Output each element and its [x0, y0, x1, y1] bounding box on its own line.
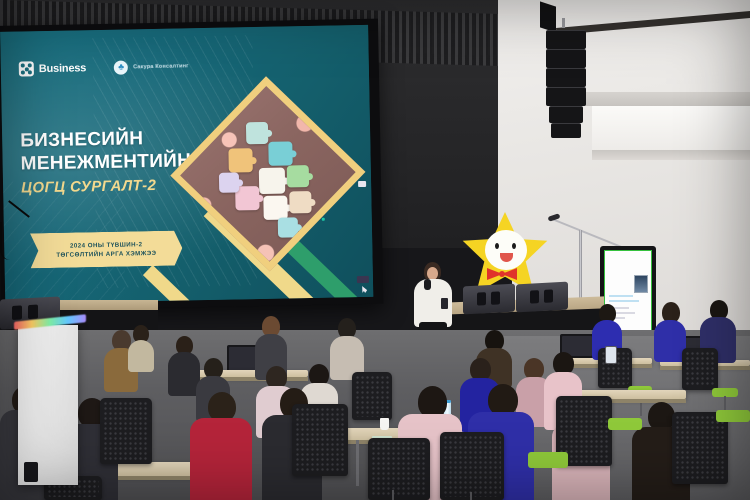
chair: [682, 348, 718, 390]
slide-corner-chip: [358, 181, 366, 187]
mascot-bowtie: [487, 268, 517, 280]
speaker-cabinet: [549, 106, 583, 123]
lotus-circle-icon: ♣: [114, 60, 128, 74]
soffit-shadow: [592, 150, 750, 160]
ribbon-line-1: 2024 ОНЫ ТҮВШИН-2: [70, 241, 143, 249]
signage-portrait-photo: [634, 275, 648, 293]
slide-title-line-1: БИЗНЕСИЙН: [20, 126, 191, 152]
chair-seat: [716, 410, 750, 422]
chair: [368, 438, 430, 500]
speaker-cabinet: [546, 68, 586, 87]
consulting-logo-label: Сакура Консалтинг: [133, 63, 189, 70]
coffee-cup: [24, 462, 38, 482]
paper-cup: [380, 418, 389, 430]
stage-monitor-wedge: [463, 284, 515, 315]
wall-soffit-inner: [592, 106, 750, 154]
line-array-speaker: [540, 4, 588, 136]
wall-soffit: [560, 92, 750, 106]
attendee: [128, 325, 154, 369]
podium: [18, 325, 78, 485]
slide-title-line-2: МЕНЕЖМЕНТИЙН: [20, 149, 191, 175]
chair: [672, 412, 728, 484]
speaker-cabinet: [546, 87, 586, 106]
microphone-icon: [424, 279, 431, 290]
projection-screen: Business ♣ Сакура Консалтинг БИЗНЕСИЙН М…: [0, 19, 383, 311]
mascot-mouth: [500, 253, 513, 262]
consulting-logo: ♣ Сакура Консалтинг: [114, 59, 189, 74]
projector-cable-drop: [0, 222, 12, 260]
slide-subtitle: ЦОГЦ СУРГАЛТ-2: [21, 177, 192, 197]
chair: [100, 398, 152, 464]
attendee: [190, 392, 252, 500]
chair-seat: [608, 418, 642, 430]
slide-title-block: БИЗНЕСИЙН МЕНЕЖМЕНТИЙН ЦОГЦ СУРГАЛТ-2: [20, 126, 192, 197]
speaker-rigging-bracket: [540, 1, 556, 32]
business-logo-label: Business: [39, 62, 87, 75]
slide-green-dot: [322, 218, 325, 221]
photo-scene: Business ♣ Сакура Консалтинг БИЗНЕСИЙН М…: [0, 0, 750, 500]
speaker-rod: [562, 18, 565, 28]
slide-taskbar-chip: [357, 276, 369, 283]
speaker-cabinet: [546, 49, 586, 68]
chair: [292, 404, 348, 476]
mascot-face: [485, 230, 527, 270]
slide-surface: Business ♣ Сакура Консалтинг БИЗНЕСИЙН М…: [0, 25, 373, 304]
phone-icon: [441, 298, 448, 309]
speaker-cabinet: [546, 30, 586, 49]
ribbon-line-2: ТӨГСӨЛТИЙН АРГА ХЭМЖЭЭ: [56, 249, 156, 258]
business-logo: Business: [19, 60, 87, 76]
stage-monitor-wedge: [516, 282, 568, 313]
chair: [352, 372, 392, 420]
slide-ribbon-banner: 2024 ОНЫ ТҮВШИН-2 ТӨГСӨЛТИЙН АРГА ХЭМЖЭЭ: [30, 230, 183, 268]
speaker-cabinet: [551, 123, 581, 138]
chair-seat: [528, 452, 568, 468]
smartphone: [605, 346, 617, 364]
grid-squares-icon: [19, 61, 34, 76]
chair: [440, 432, 504, 500]
